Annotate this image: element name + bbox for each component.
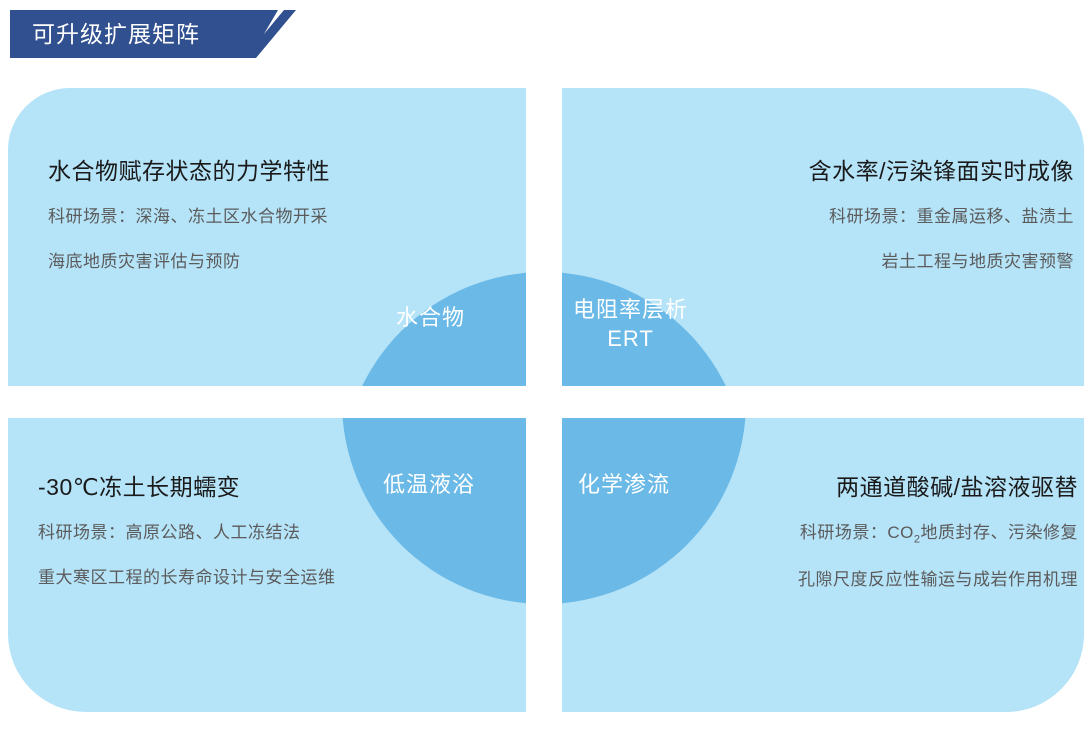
quadrant-title: -30℃冻土长期蠕变 <box>38 468 336 502</box>
co2-subscript: 2 <box>914 533 921 545</box>
co2-prefix: 科研场景：CO <box>800 523 914 542</box>
quadrant-line: 科研场景：高原公路、人工冻结法 <box>38 518 336 543</box>
quadrant-line: 岩土工程与地质灾害预警 <box>674 247 1074 272</box>
bubble-label-ert-line2: ERT <box>573 324 688 353</box>
bubble-label-ert: 电阻率层析 ERT <box>573 295 688 353</box>
quadrant-line-co2: 科研场景：CO2地质封存、污染修复 <box>658 518 1078 545</box>
bubble-label-hydrate: 水合物 <box>396 303 465 332</box>
quadrant-text-top-right: 含水率/污染锋面实时成像 科研场景：重金属运移、盐渍土 岩土工程与地质灾害预警 <box>674 152 1074 272</box>
quadrant-title: 含水率/污染锋面实时成像 <box>674 152 1074 186</box>
bubble-label-cryogenic-bath: 低温液浴 <box>383 470 475 499</box>
quadrant-line: 科研场景：重金属运移、盐渍土 <box>674 202 1074 227</box>
quadrant-line: 重大寒区工程的长寿命设计与安全运维 <box>38 563 336 588</box>
bubble-label-chemical-seepage: 化学渗流 <box>578 470 670 499</box>
quadrant-title: 水合物赋存状态的力学特性 <box>48 152 330 186</box>
quadrant-text-bottom-left: -30℃冻土长期蠕变 科研场景：高原公路、人工冻结法 重大寒区工程的长寿命设计与… <box>38 468 336 588</box>
quadrant-line: 孔隙尺度反应性输运与成岩作用机理 <box>658 565 1078 590</box>
page-title: 可升级扩展矩阵 <box>32 10 200 58</box>
quadrant-text-bottom-right: 两通道酸碱/盐溶液驱替 科研场景：CO2地质封存、污染修复 孔隙尺度反应性输运与… <box>658 468 1078 590</box>
quadrant-line: 海底地质灾害评估与预防 <box>48 247 330 272</box>
accent-quarter-circle <box>342 418 526 604</box>
quadrant-text-top-left: 水合物赋存状态的力学特性 科研场景：深海、冻土区水合物开采 海底地质灾害评估与预… <box>48 152 330 272</box>
quadrant-title: 两通道酸碱/盐溶液驱替 <box>658 468 1078 502</box>
bubble-label-ert-line1: 电阻率层析 <box>573 295 688 324</box>
co2-suffix: 地质封存、污染修复 <box>921 523 1079 542</box>
page-title-banner: 可升级扩展矩阵 <box>10 10 310 58</box>
quadrant-line: 科研场景：深海、冻土区水合物开采 <box>48 202 330 227</box>
